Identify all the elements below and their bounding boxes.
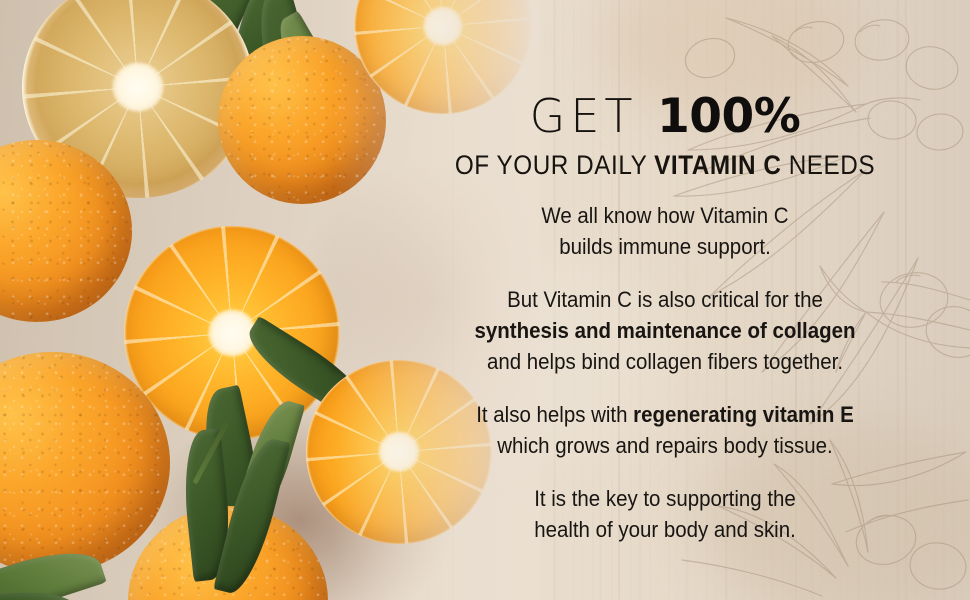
paragraph-vitamin-e: It also helps with regenerating vitamin … <box>419 399 912 461</box>
body-text: health of your body and skin. <box>534 517 796 542</box>
paragraph-line: builds immune support. <box>419 231 912 262</box>
page-subtitle: OF YOUR DAILY VITAMIN C NEEDS <box>427 150 904 181</box>
paragraph-body-and-skin: It is the key to supporting thehealth of… <box>419 483 912 545</box>
subtitle-bold: VITAMIN C <box>654 150 781 180</box>
promo-copy-block: GET 100% OF YOUR DAILY VITAMIN C NEEDS W… <box>400 0 930 600</box>
body-text: and helps bind collagen fibers together. <box>487 349 843 374</box>
paragraph-immune-support: We all know how Vitamin Cbuilds immune s… <box>419 200 912 262</box>
paragraph-line: health of your body and skin. <box>419 514 912 545</box>
body-text: It is the key to supporting the <box>534 486 796 511</box>
subtitle-prefix: OF YOUR DAILY <box>455 150 654 180</box>
vitamin-c-promo-banner: GET 100% OF YOUR DAILY VITAMIN C NEEDS W… <box>0 0 970 600</box>
headline-thin-word: GET <box>530 89 638 143</box>
body-copy: We all know how Vitamin Cbuilds immune s… <box>400 200 930 545</box>
body-text: It also helps with <box>476 402 633 427</box>
paragraph-collagen: But Vitamin C is also critical for thesy… <box>419 284 912 377</box>
emphasis-text: regenerating vitamin E <box>633 402 854 427</box>
page-title: GET 100% <box>400 93 930 140</box>
body-text: But Vitamin C is also critical for the <box>507 287 823 312</box>
paragraph-line: It is the key to supporting the <box>419 483 912 514</box>
subtitle-suffix: NEEDS <box>781 150 875 180</box>
paragraph-line: But Vitamin C is also critical for the <box>419 284 912 315</box>
body-text: builds immune support. <box>559 234 771 259</box>
headline-heavy-word: 100% <box>657 89 800 144</box>
body-text: We all know how Vitamin C <box>541 203 788 228</box>
paragraph-line: which grows and repairs body tissue. <box>419 430 912 461</box>
emphasis-text: synthesis and maintenance of collagen <box>475 318 856 343</box>
paragraph-line: synthesis and maintenance of collagen <box>419 315 912 346</box>
paragraph-line: It also helps with regenerating vitamin … <box>419 399 912 430</box>
paragraph-line: and helps bind collagen fibers together. <box>419 346 912 377</box>
paragraph-line: We all know how Vitamin C <box>419 200 912 231</box>
body-text: which grows and repairs body tissue. <box>497 433 832 458</box>
